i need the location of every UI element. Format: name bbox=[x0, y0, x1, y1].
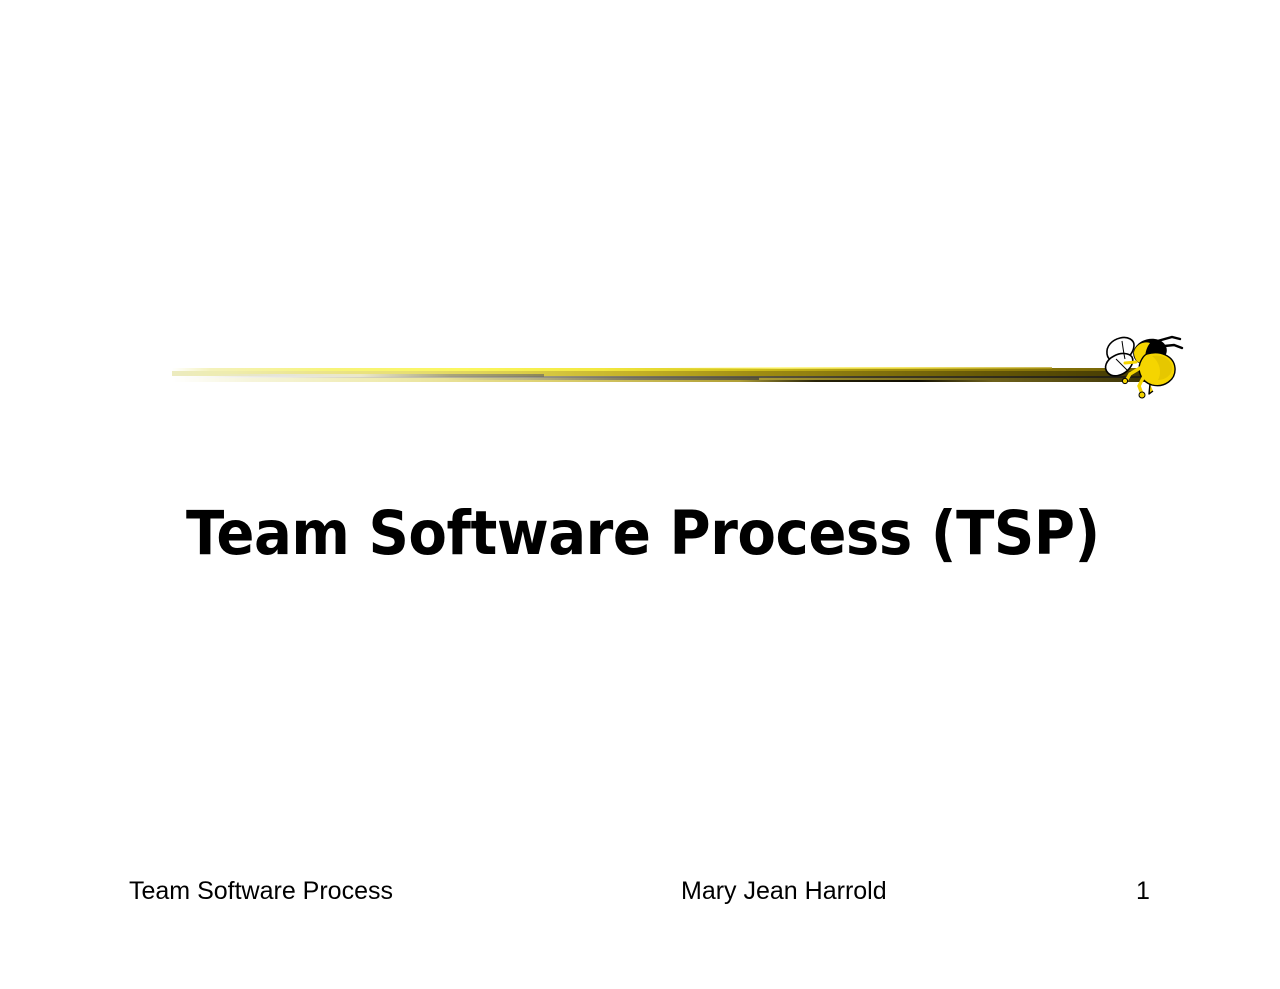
gradient-rule-dark-streak bbox=[739, 380, 993, 382]
footer-author-label: Mary Jean Harrold bbox=[681, 876, 887, 906]
slide-footer: Team Software Process Mary Jean Harrold … bbox=[0, 876, 1280, 910]
presentation-slide: Team Software Process (TSP) Team Softwar… bbox=[0, 0, 1280, 989]
gradient-rule-bright-streak bbox=[661, 367, 1052, 369]
slide-title: Team Software Process (TSP) bbox=[186, 496, 1014, 572]
footer-course-label: Team Software Process bbox=[129, 876, 393, 906]
gradient-rule-wash-mid bbox=[446, 377, 759, 380]
yellowjacket-bee-icon bbox=[1092, 328, 1184, 402]
footer-page-number: 1 bbox=[1136, 876, 1150, 906]
gradient-rule bbox=[172, 360, 1150, 390]
